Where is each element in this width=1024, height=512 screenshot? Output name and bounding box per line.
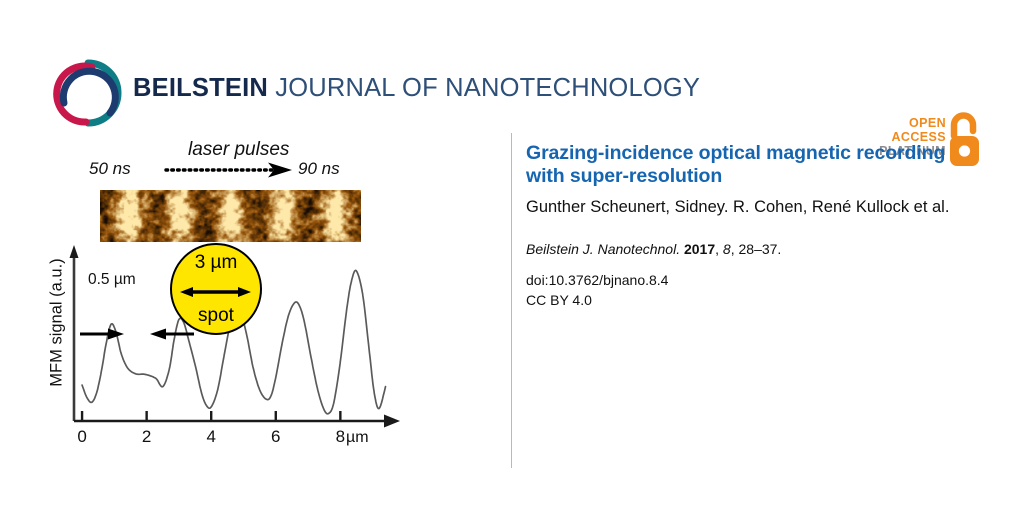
x-tick-label: 4 bbox=[206, 427, 215, 447]
article-title[interactable]: Grazing-incidence optical magnetic recor… bbox=[526, 142, 978, 188]
article-authors: Gunther Scheunert, Sidney. R. Cohen, Ren… bbox=[526, 197, 978, 218]
x-tick-label: 2 bbox=[142, 427, 151, 447]
article-license: CC BY 4.0 bbox=[526, 290, 978, 310]
journal-cover-card: BEILSTEIN JOURNAL OF NANOTECHNOLOGY OPEN… bbox=[0, 0, 1024, 512]
time-end-label: 90 ns bbox=[298, 159, 340, 179]
citation-journal: Beilstein J. Nanotechnol. bbox=[526, 241, 680, 257]
mfm-line-profile-plot: MFM signal (a.u.) 0.5 µm 3 µm bbox=[40, 243, 440, 458]
laser-pulses-label: laser pulses bbox=[188, 139, 289, 161]
figure-graphical-abstract: laser pulses 50 ns 90 ns MFM signal (a.u… bbox=[40, 133, 480, 468]
x-tick-label: 0 bbox=[77, 427, 86, 447]
double-headed-arrow-icon bbox=[179, 286, 252, 298]
x-tick-label: 8 bbox=[336, 427, 345, 447]
column-divider bbox=[511, 133, 512, 468]
x-tick-label: 6 bbox=[271, 427, 280, 447]
brand-light-text: JOURNAL OF NANOTECHNOLOGY bbox=[268, 74, 700, 102]
spot-diameter-label: 3 µm bbox=[172, 252, 260, 274]
x-axis-unit-label: µm bbox=[346, 429, 369, 447]
article-doi[interactable]: doi:10.3762/bjnano.8.4 bbox=[526, 270, 978, 290]
article-metadata: Grazing-incidence optical magnetic recor… bbox=[526, 142, 978, 311]
citation-year: 2017 bbox=[684, 241, 715, 257]
citation-pages: 28–37. bbox=[739, 241, 782, 257]
header: BEILSTEIN JOURNAL OF NANOTECHNOLOGY OPEN… bbox=[0, 0, 1024, 140]
laser-spot-circle: 3 µm spot bbox=[170, 243, 262, 335]
citation-volume: 8 bbox=[723, 241, 731, 257]
inward-arrows-icon bbox=[78, 326, 196, 342]
article-doi-block: doi:10.3762/bjnano.8.4 CC BY 4.0 bbox=[526, 270, 978, 311]
spot-word-label: spot bbox=[172, 305, 260, 327]
y-axis-label: MFM signal (a.u.) bbox=[48, 238, 67, 408]
brand-bold-text: BEILSTEIN bbox=[133, 74, 268, 102]
article-citation: Beilstein J. Nanotechnol. 2017, 8, 28–37… bbox=[526, 241, 978, 257]
time-start-label: 50 ns bbox=[89, 159, 131, 179]
beilstein-ring-logo-icon bbox=[52, 57, 124, 129]
figure-top-labels: laser pulses 50 ns 90 ns bbox=[40, 133, 440, 193]
brand-wordmark: BEILSTEIN JOURNAL OF NANOTECHNOLOGY bbox=[133, 74, 700, 103]
feature-width-annotation: 0.5 µm bbox=[88, 271, 136, 289]
mfm-micrograph-strip bbox=[100, 190, 361, 242]
open-access-line1: OPEN bbox=[879, 116, 946, 130]
dotted-right-arrow-icon bbox=[164, 161, 296, 179]
